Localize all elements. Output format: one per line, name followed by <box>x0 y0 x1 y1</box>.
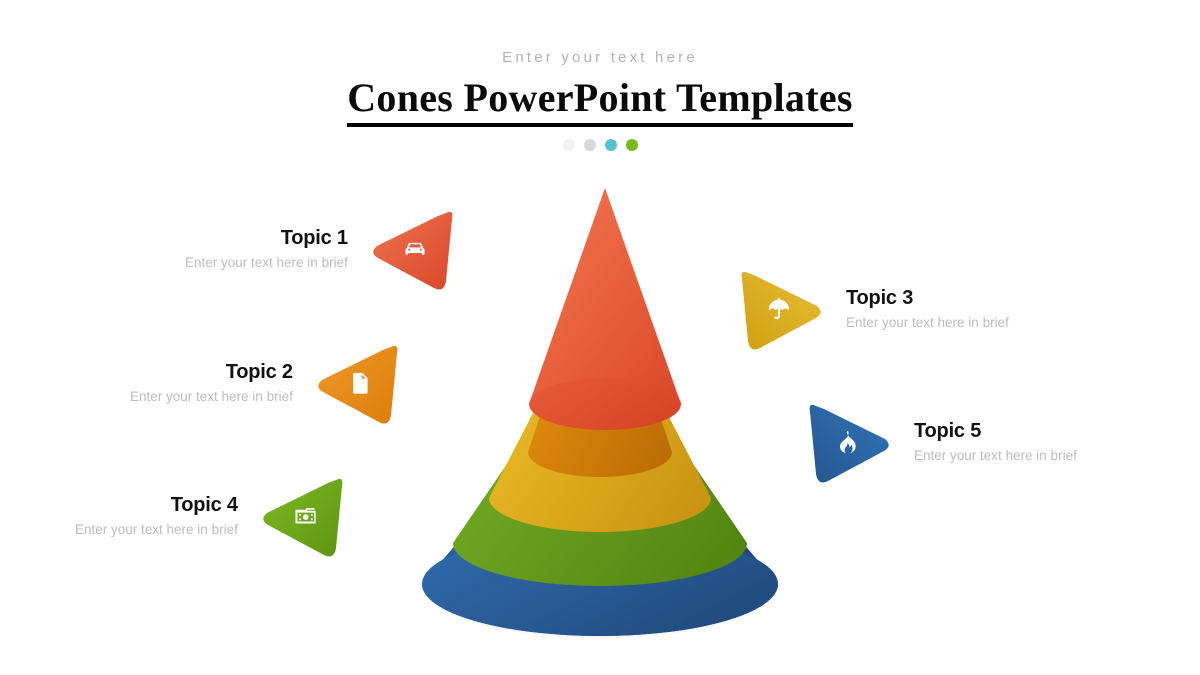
topic-item-4[interactable]: Topic 4 Enter your text here in brief <box>75 470 344 562</box>
topic-item-2[interactable]: Topic 2 Enter your text here in brief <box>130 337 399 429</box>
topic-5-text: Topic 5 Enter your text here in brief <box>914 419 1077 466</box>
topic-2-badge[interactable] <box>313 337 399 429</box>
topic-1-text: Topic 1 Enter your text here in brief <box>185 226 348 273</box>
topic-3-text: Topic 3 Enter your text here in brief <box>846 286 1009 333</box>
slide-title-underline: Cones PowerPoint Templates <box>347 75 853 127</box>
topic-4-badge[interactable] <box>258 470 344 562</box>
topic-item-1[interactable]: Topic 1 Enter your text here in brief <box>185 203 454 295</box>
layered-cone-diagram <box>400 180 800 630</box>
decorative-dot-row <box>0 139 1200 151</box>
page-title: Cones PowerPoint Templates <box>347 75 853 121</box>
topic-1-description: Enter your text here in brief <box>185 253 348 273</box>
topic-2-description: Enter your text here in brief <box>130 387 293 407</box>
topic-1-title: Topic 1 <box>185 226 348 251</box>
topic-4-title: Topic 4 <box>75 493 238 518</box>
topic-4-description: Enter your text here in brief <box>75 520 238 540</box>
topic-5-badge[interactable] <box>808 396 894 488</box>
topic-3-title: Topic 3 <box>846 286 1009 311</box>
dot-2 <box>584 139 596 151</box>
cone-graphic <box>400 180 800 630</box>
topic-5-description: Enter your text here in brief <box>914 446 1077 466</box>
topic-2-text: Topic 2 Enter your text here in brief <box>130 360 293 407</box>
slide-header: Enter your text here Cones PowerPoint Te… <box>0 48 1200 151</box>
topic-item-3[interactable]: Topic 3 Enter your text here in brief <box>740 263 1009 355</box>
dot-4 <box>626 139 638 151</box>
dot-3 <box>605 139 617 151</box>
slide-subtitle: Enter your text here <box>0 48 1200 68</box>
cone-layer-red <box>529 188 681 430</box>
topic-3-badge[interactable] <box>740 263 826 355</box>
topic-5-title: Topic 5 <box>914 419 1077 444</box>
topic-1-badge[interactable] <box>368 203 454 295</box>
topic-item-5[interactable]: Topic 5 Enter your text here in brief <box>808 396 1077 488</box>
topic-4-text: Topic 4 Enter your text here in brief <box>75 493 238 540</box>
dot-1 <box>563 139 575 151</box>
topic-3-description: Enter your text here in brief <box>846 313 1009 333</box>
topic-2-title: Topic 2 <box>130 360 293 385</box>
